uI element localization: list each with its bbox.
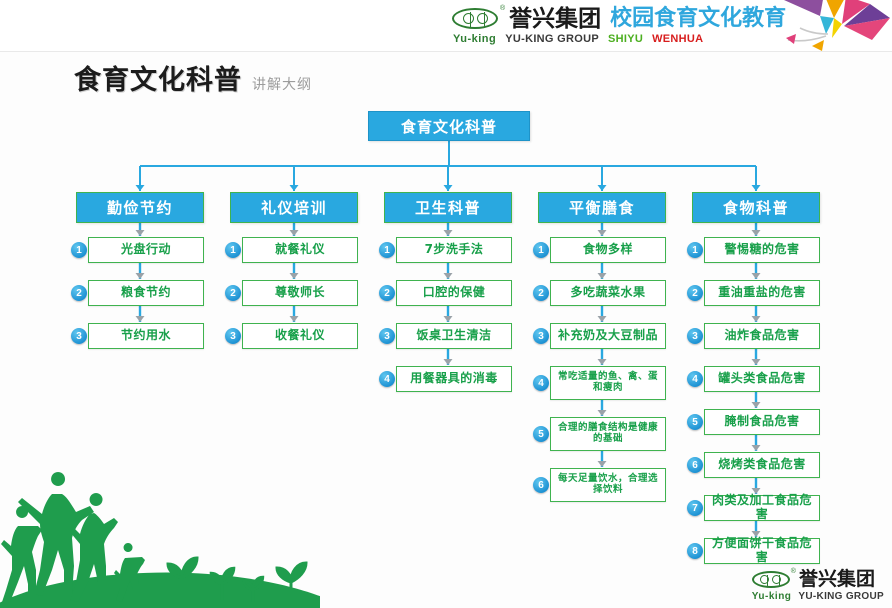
item-node[interactable]: 油炸食品危害 — [704, 323, 820, 349]
item-number-badge: 1 — [71, 242, 87, 258]
item-number-badge: 7 — [687, 500, 703, 516]
root-node[interactable]: 食育文化科普 — [368, 111, 530, 141]
item-node[interactable]: 多吃蔬菜水果 — [550, 280, 666, 306]
item-number-badge: 3 — [379, 328, 395, 344]
footer-brand-name-cn: 誉兴集团 — [799, 569, 875, 590]
item-node[interactable]: 光盘行动 — [88, 237, 204, 263]
item-number-badge: 3 — [71, 328, 87, 344]
item-node[interactable]: 方便面饼干食品危害 — [704, 538, 820, 564]
item-node[interactable]: 警惕糖的危害 — [704, 237, 820, 263]
category-node-4[interactable]: 平衡膳食 — [538, 192, 666, 223]
item-number-badge: 2 — [71, 285, 87, 301]
footer-brand-group-en: YU-KING GROUP — [798, 591, 884, 602]
item-node[interactable]: 每天足量饮水，合理选择饮料 — [550, 468, 666, 502]
item-number-badge: 1 — [533, 242, 549, 258]
footer-brand-row-secondary: Yu-king YU-KING GROUP — [752, 591, 884, 602]
category-node-3[interactable]: 卫生科普 — [384, 192, 512, 223]
item-number-badge: 3 — [687, 328, 703, 344]
item-number-badge: 2 — [379, 285, 395, 301]
children-running-silhouette-icon — [0, 466, 320, 608]
item-node[interactable]: 罐头类食品危害 — [704, 366, 820, 392]
item-node[interactable]: 饭桌卫生清洁 — [396, 323, 512, 349]
category-node-5[interactable]: 食物科普 — [692, 192, 820, 223]
item-number-badge: 3 — [225, 328, 241, 344]
item-node[interactable]: 粮食节约 — [88, 280, 204, 306]
item-number-badge: 2 — [225, 285, 241, 301]
item-node[interactable]: 食物多样 — [550, 237, 666, 263]
item-number-badge: 4 — [687, 371, 703, 387]
item-node[interactable]: 口腔的保健 — [396, 280, 512, 306]
item-number-badge: 4 — [379, 371, 395, 387]
item-number-badge: 2 — [533, 285, 549, 301]
footer-brand-row-primary: ® 誉兴集团 — [752, 568, 875, 590]
item-node[interactable]: 腌制食品危害 — [704, 409, 820, 435]
category-node-1[interactable]: 勤俭节约 — [76, 192, 204, 223]
item-number-badge: 2 — [687, 285, 703, 301]
item-number-badge: 1 — [225, 242, 241, 258]
item-node[interactable]: 补充奶及大豆制品 — [550, 323, 666, 349]
item-node[interactable]: 常吃适量的鱼、禽、蛋和瘦肉 — [550, 366, 666, 400]
category-node-2[interactable]: 礼仪培训 — [230, 192, 358, 223]
item-node[interactable]: 尊敬师长 — [242, 280, 358, 306]
item-node[interactable]: 肉类及加工食品危害 — [704, 495, 820, 521]
item-node[interactable]: 用餐器具的消毒 — [396, 366, 512, 392]
item-node[interactable]: 烧烤类食品危害 — [704, 452, 820, 478]
slide-canvas: ® 誉兴集团 校园食育文化教育 Yu-king YU-KING GROUP SH… — [0, 0, 892, 608]
item-node[interactable]: 就餐礼仪 — [242, 237, 358, 263]
item-number-badge: 6 — [687, 457, 703, 473]
item-number-badge: 4 — [533, 375, 549, 391]
yuking-logo-icon — [752, 571, 790, 588]
item-number-badge: 6 — [533, 477, 549, 493]
item-number-badge: 8 — [687, 543, 703, 559]
item-node[interactable]: 合理的膳食结构是健康的基础 — [550, 417, 666, 451]
item-number-badge: 1 — [687, 242, 703, 258]
item-number-badge: 5 — [533, 426, 549, 442]
item-number-badge: 3 — [533, 328, 549, 344]
item-node[interactable]: 7步洗手法 — [396, 237, 512, 263]
item-node[interactable]: 收餐礼仪 — [242, 323, 358, 349]
item-number-badge: 1 — [379, 242, 395, 258]
registered-trademark-icon: ® — [791, 568, 796, 575]
item-node[interactable]: 重油重盐的危害 — [704, 280, 820, 306]
footer-brand: ® 誉兴集团 Yu-king YU-KING GROUP — [752, 568, 884, 602]
item-number-badge: 5 — [687, 414, 703, 430]
footer-brand-yuking-en: Yu-king — [752, 591, 792, 602]
item-node[interactable]: 节约用水 — [88, 323, 204, 349]
